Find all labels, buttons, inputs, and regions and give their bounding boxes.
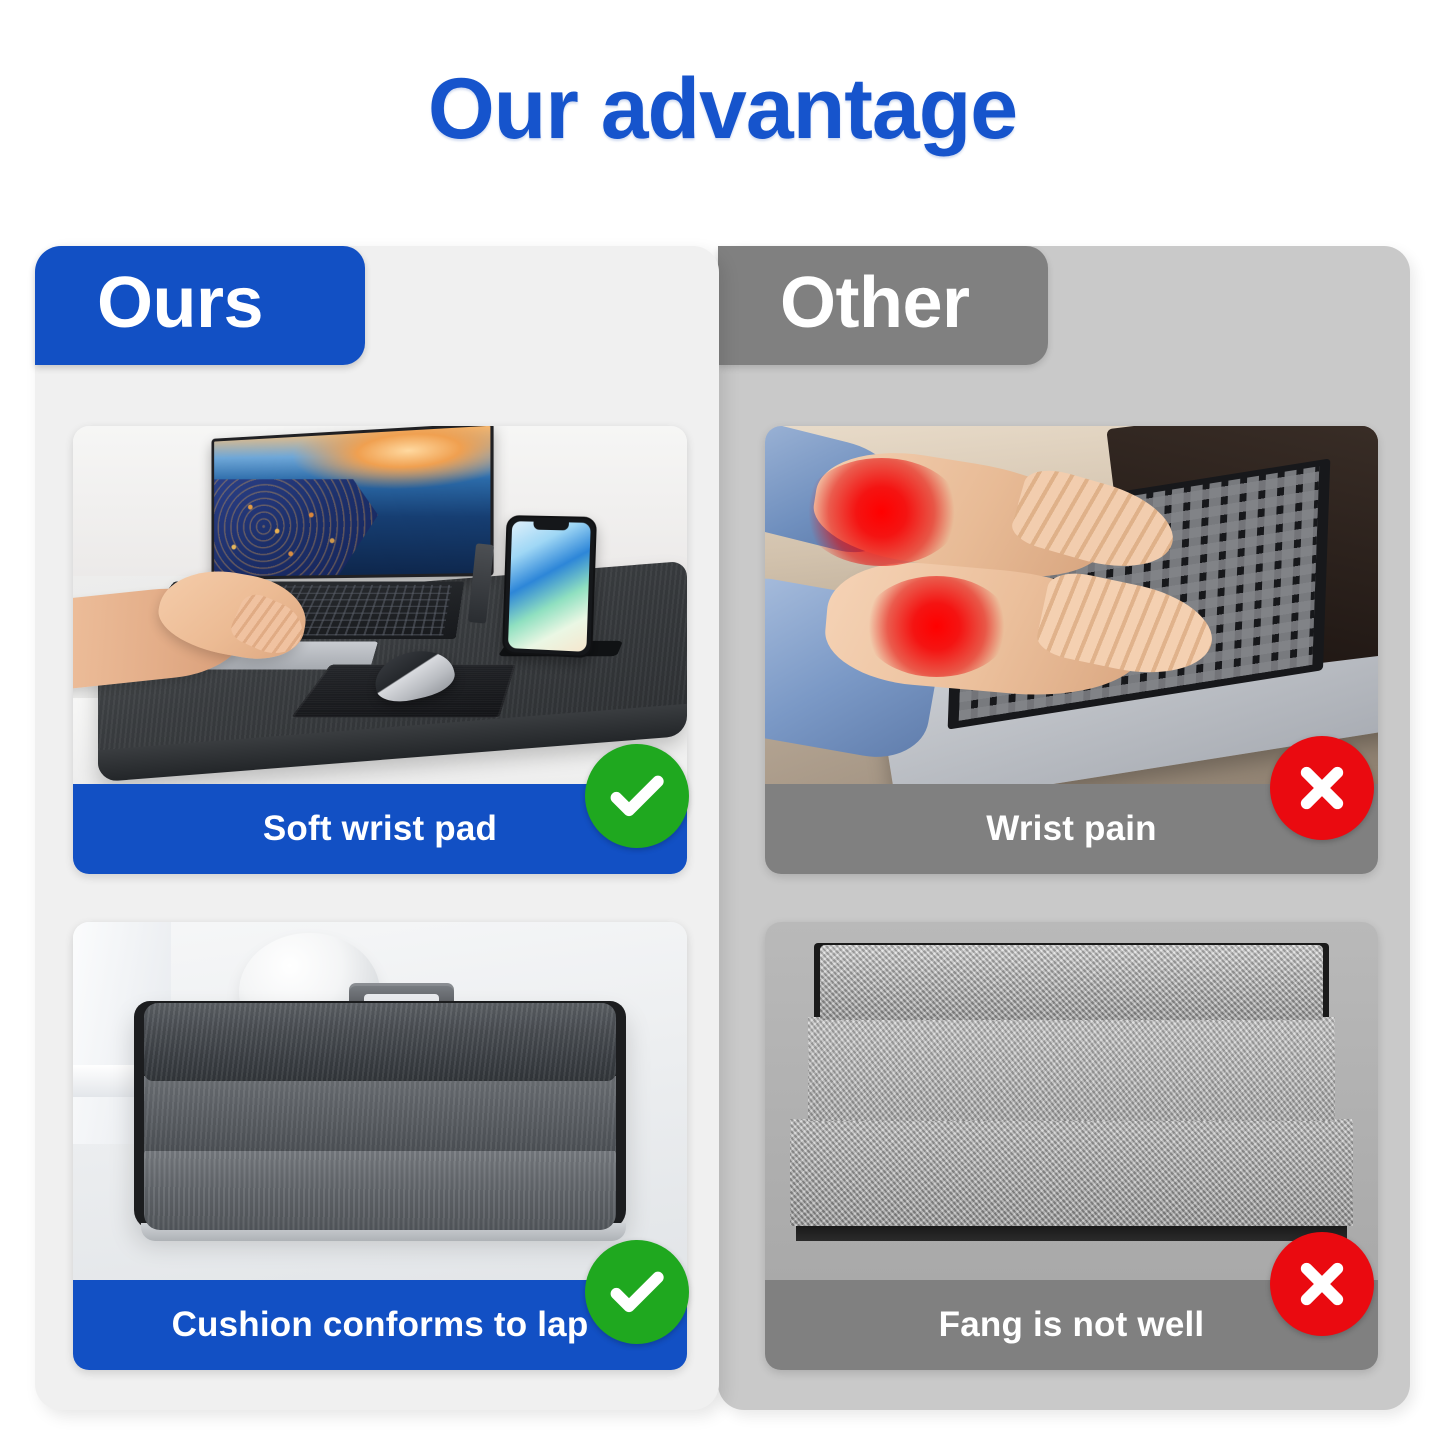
cross-badge bbox=[1270, 736, 1374, 840]
image-cushion-lap-desk bbox=[73, 922, 687, 1280]
image-low-quality-cushion bbox=[765, 922, 1378, 1280]
pain-highlight bbox=[863, 576, 1010, 676]
tab-ours[interactable]: Ours bbox=[35, 246, 365, 365]
tab-other-label: Other bbox=[780, 267, 970, 339]
image-lap-desk bbox=[73, 426, 687, 784]
cross-badge bbox=[1270, 1232, 1374, 1336]
pain-highlight bbox=[802, 458, 961, 565]
check-badge bbox=[585, 744, 689, 848]
comparison-infographic: Our advantage Ours Other bbox=[0, 0, 1445, 1445]
tab-other[interactable]: Other bbox=[718, 246, 1048, 365]
image-wrist-pain bbox=[765, 426, 1378, 784]
page-title: Our advantage bbox=[0, 64, 1445, 154]
tab-ours-label: Ours bbox=[97, 267, 263, 339]
check-badge bbox=[585, 1240, 689, 1344]
